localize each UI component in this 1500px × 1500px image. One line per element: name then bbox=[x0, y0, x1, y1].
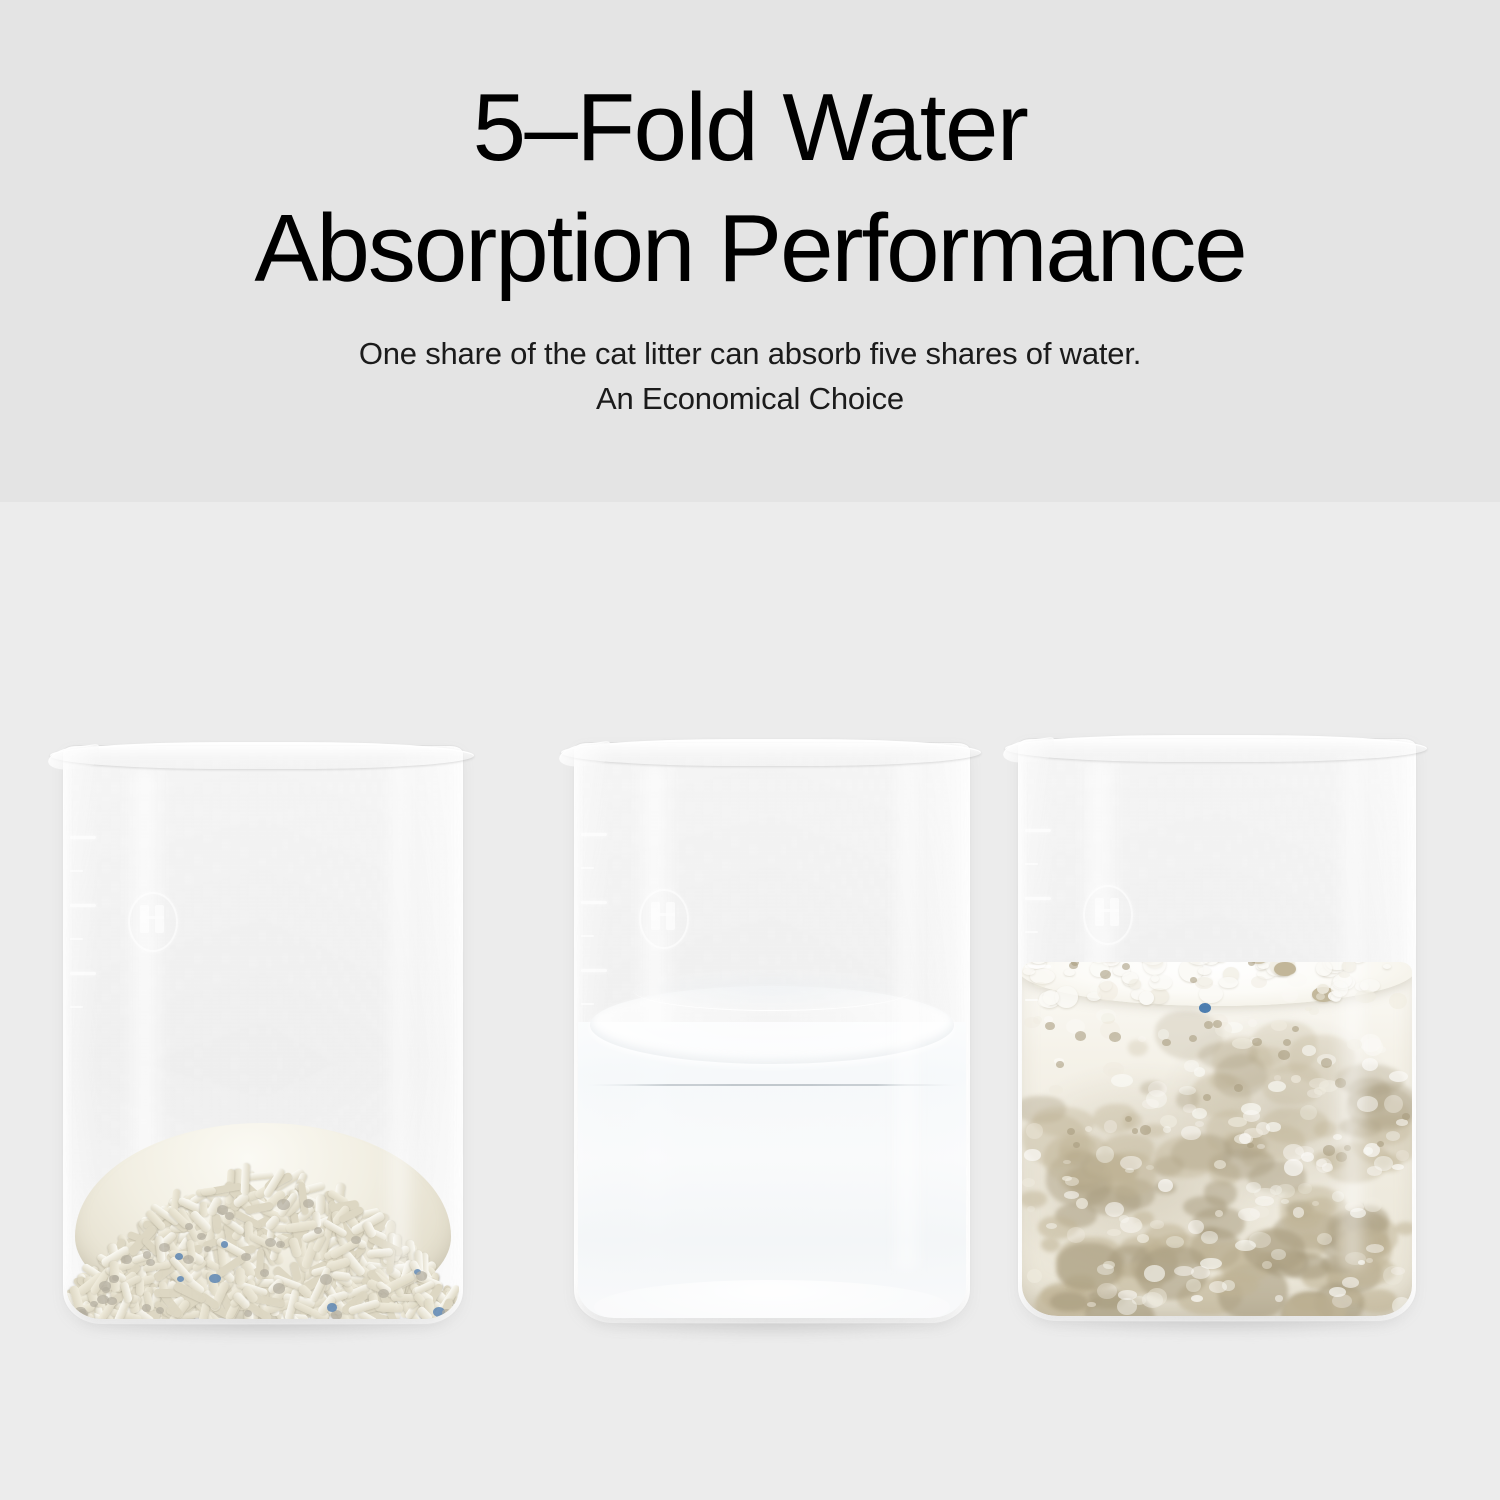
swollen-litter-lump bbox=[1332, 975, 1355, 990]
swollen-litter-lump bbox=[1331, 993, 1341, 1001]
wet-litter-patch bbox=[1342, 1232, 1369, 1254]
graduation-marks bbox=[581, 833, 651, 1043]
gray-granule bbox=[1132, 1128, 1138, 1133]
water-base-arc bbox=[594, 1280, 951, 1318]
graduation-tick bbox=[70, 938, 83, 940]
litter-pellet bbox=[410, 1244, 419, 1273]
blue-deodorant-granule bbox=[209, 1274, 220, 1283]
swollen-litter-lump bbox=[1383, 964, 1392, 969]
gray-granule bbox=[146, 1259, 154, 1266]
swollen-litter-lump bbox=[1222, 1280, 1235, 1291]
swollen-litter-lump bbox=[1186, 1279, 1200, 1292]
gray-granule bbox=[1140, 1125, 1151, 1135]
swollen-litter-lump bbox=[1389, 1071, 1408, 1082]
swollen-litter-lump bbox=[1358, 1260, 1365, 1265]
swollen-litter-lump bbox=[1142, 1099, 1159, 1109]
gray-granule bbox=[1073, 1142, 1080, 1148]
graduation-tick bbox=[70, 870, 83, 872]
blue-deodorant-granule bbox=[1199, 1003, 1210, 1013]
swollen-litter-lump bbox=[1067, 1227, 1085, 1242]
beaker-glass bbox=[573, 742, 971, 1324]
swollen-litter-lump bbox=[1027, 1206, 1034, 1213]
beaker-water bbox=[573, 742, 969, 1322]
graduation-tick bbox=[1025, 999, 1038, 1001]
swollen-litter-lump bbox=[1024, 1149, 1041, 1160]
water-surface-inner-ring bbox=[633, 970, 910, 1011]
gray-granule bbox=[1252, 1038, 1261, 1046]
dry-litter-pile bbox=[67, 1123, 459, 1319]
graduation-tick bbox=[70, 904, 96, 907]
swollen-litter-lump bbox=[1137, 1234, 1149, 1243]
swollen-litter-lump bbox=[1364, 1197, 1381, 1212]
swollen-litter-lump bbox=[1183, 1104, 1196, 1112]
header-band: 5–Fold Water Absorption Performance One … bbox=[0, 0, 1500, 502]
swollen-litter-lump bbox=[1275, 1295, 1283, 1302]
swollen-litter-lump bbox=[1195, 1121, 1203, 1127]
swollen-litter-lump bbox=[1309, 1007, 1319, 1015]
blue-deodorant-granule bbox=[175, 1253, 183, 1260]
swollen-litter-lump bbox=[1391, 1267, 1405, 1275]
beaker-brand-emblem-icon bbox=[639, 889, 689, 949]
swollen-litter-lump bbox=[1096, 1146, 1114, 1163]
swollen-litter-lump bbox=[1139, 991, 1153, 1004]
graduation-marks bbox=[70, 836, 140, 1046]
litter-pellet bbox=[386, 1264, 420, 1273]
swollen-litter-lump bbox=[1314, 1087, 1327, 1095]
swollen-litter-lump bbox=[1104, 1120, 1117, 1133]
gray-granule bbox=[99, 1281, 111, 1291]
gray-granule bbox=[1234, 1084, 1243, 1092]
gray-granule bbox=[204, 1246, 211, 1252]
gray-granule bbox=[143, 1251, 151, 1258]
product-feature-image: 5–Fold Water Absorption Performance One … bbox=[0, 0, 1500, 1500]
gray-granule bbox=[1056, 1061, 1063, 1067]
wet-litter-patch bbox=[1336, 1228, 1391, 1274]
swollen-litter-lump bbox=[1085, 1126, 1092, 1132]
swollen-litter-lump bbox=[1238, 1208, 1260, 1221]
beaker-glass bbox=[62, 745, 464, 1325]
litter-pellet bbox=[376, 1236, 390, 1252]
beaker-dry-litter bbox=[62, 745, 462, 1323]
swollen-litter-lump bbox=[1097, 1283, 1116, 1299]
swollen-litter-lump bbox=[1251, 976, 1267, 988]
gray-granule bbox=[244, 1310, 252, 1317]
gray-granule bbox=[1292, 1026, 1299, 1032]
water-body bbox=[578, 1022, 966, 1318]
swollen-litter-lump bbox=[1274, 1075, 1281, 1081]
litter-pellet bbox=[385, 1220, 395, 1249]
graduation-tick bbox=[581, 901, 607, 904]
graduation-tick bbox=[1025, 931, 1038, 933]
gray-granule bbox=[142, 1304, 151, 1311]
swollen-litter-lump bbox=[1339, 972, 1350, 978]
graduation-tick bbox=[581, 969, 607, 972]
gray-granule bbox=[217, 1205, 228, 1215]
swollen-litter-lump bbox=[1215, 1210, 1223, 1217]
gray-granule bbox=[1109, 1032, 1121, 1042]
beaker-glass bbox=[1017, 738, 1417, 1322]
swollen-litter-lump bbox=[1360, 979, 1380, 993]
gray-granule bbox=[1323, 1145, 1335, 1155]
swollen-litter-lump bbox=[1194, 1067, 1206, 1077]
swollen-litter-lump bbox=[1298, 1183, 1312, 1194]
header-text-block: 5–Fold Water Absorption Performance One … bbox=[0, 0, 1500, 422]
swollen-litter-lump bbox=[1284, 1159, 1302, 1175]
page-title: 5–Fold Water Absorption Performance bbox=[0, 0, 1500, 310]
swollen-litter-lump bbox=[1147, 1288, 1167, 1306]
swollen-litter-lump bbox=[1022, 1178, 1035, 1187]
swollen-litter-lump bbox=[1363, 1147, 1374, 1155]
beaker-brand-emblem-icon bbox=[1083, 885, 1133, 945]
subtitle-line-1: One share of the cat litter can absorb f… bbox=[0, 332, 1500, 377]
litter-pellet bbox=[385, 1248, 404, 1266]
swollen-litter-lump bbox=[1049, 1085, 1063, 1095]
swollen-litter-lump bbox=[1345, 962, 1355, 964]
gray-granule bbox=[121, 1255, 131, 1264]
swollen-litter-lump bbox=[1366, 1258, 1373, 1263]
swollen-litter-lump bbox=[1301, 1152, 1314, 1162]
wet-litter-patch bbox=[1330, 1215, 1375, 1238]
swollen-litter-lump bbox=[1332, 1191, 1345, 1202]
graduation-tick bbox=[581, 833, 607, 836]
litter-pellet bbox=[392, 1234, 400, 1259]
gray-granule bbox=[277, 1199, 289, 1210]
gray-granule bbox=[276, 1241, 285, 1249]
swollen-litter-lump bbox=[1146, 1165, 1154, 1170]
litter-pellet bbox=[212, 1214, 221, 1235]
title-line-2: Absorption Performance bbox=[0, 189, 1500, 310]
graduation-tick bbox=[70, 972, 96, 975]
litter-pellet bbox=[236, 1268, 245, 1285]
gray-granule bbox=[1336, 1152, 1348, 1162]
graduation-tick bbox=[1025, 965, 1051, 968]
graduation-tick bbox=[581, 935, 594, 937]
gray-granule bbox=[320, 1274, 332, 1284]
gray-granule bbox=[1248, 962, 1255, 966]
swollen-litter-lump bbox=[1333, 974, 1352, 989]
blue-deodorant-granule bbox=[221, 1241, 229, 1247]
blue-deodorant-granule bbox=[327, 1303, 337, 1312]
swollen-litter-lump bbox=[1120, 1156, 1142, 1170]
swollen-litter-lump bbox=[1316, 993, 1325, 1001]
swollen-litter-lump bbox=[1392, 1164, 1404, 1170]
swollen-litter-lump bbox=[1111, 1074, 1132, 1087]
gray-granule bbox=[1189, 1035, 1197, 1042]
gray-granule bbox=[156, 1307, 165, 1314]
graduation-tick bbox=[1025, 897, 1051, 900]
swollen-litter-lump bbox=[1087, 1302, 1096, 1307]
beaker-photo-stage bbox=[0, 502, 1500, 1500]
gray-granule bbox=[90, 1301, 98, 1308]
gray-granule bbox=[1100, 970, 1111, 979]
swollen-litter-lump bbox=[1342, 962, 1355, 972]
litter-pellet bbox=[367, 1248, 394, 1259]
swollen-litter-lump bbox=[1255, 1196, 1274, 1206]
graduation-tick bbox=[1025, 863, 1038, 865]
swollen-litter-lump bbox=[1268, 1081, 1286, 1092]
swollen-litter-lump bbox=[1181, 1126, 1200, 1140]
beaker-brand-emblem-icon bbox=[128, 892, 178, 952]
swollen-litter-lump bbox=[1144, 1265, 1165, 1281]
gray-granule bbox=[1344, 1145, 1351, 1151]
swollen-litter-lump bbox=[1350, 1208, 1366, 1219]
litter-pellet bbox=[388, 1233, 397, 1258]
wet-litter-patch bbox=[1022, 1191, 1047, 1207]
swollen-litter-lump bbox=[1389, 993, 1407, 1010]
swollen-litter-lump bbox=[1317, 1233, 1332, 1245]
swollen-litter-lump bbox=[1347, 1039, 1362, 1050]
gray-granule bbox=[1213, 1020, 1222, 1028]
wet-litter-patch bbox=[1350, 1228, 1374, 1241]
swollen-litter-lump bbox=[1271, 1249, 1286, 1260]
swollen-litter-lump bbox=[1097, 981, 1118, 1001]
swollen-litter-lump bbox=[1287, 973, 1308, 987]
page-subtitle: One share of the cat litter can absorb f… bbox=[0, 310, 1500, 422]
subtitle-line-2: An Economical Choice bbox=[0, 377, 1500, 422]
graduation-tick bbox=[70, 1006, 83, 1008]
beaker-absorbed-clump bbox=[1017, 738, 1415, 1320]
swollen-litter-lump bbox=[1355, 990, 1376, 1003]
litter-pellet bbox=[378, 1231, 391, 1267]
swollen-litter-lump bbox=[1266, 1122, 1282, 1132]
swollen-litter-lump bbox=[1235, 1240, 1256, 1252]
swollen-litter-lump bbox=[1396, 1119, 1408, 1126]
swollen-litter-lump bbox=[1150, 1220, 1164, 1229]
swollen-litter-lump bbox=[1107, 1229, 1121, 1236]
gray-granule bbox=[1402, 1113, 1410, 1120]
gray-granule bbox=[351, 1236, 361, 1245]
wet-litter-patch bbox=[1128, 1040, 1148, 1057]
swollen-litter-lump bbox=[1345, 1252, 1366, 1265]
swollen-litter-lump bbox=[1332, 1294, 1353, 1308]
graduation-marks bbox=[1025, 829, 1095, 1039]
swollen-litter-lump bbox=[1271, 1020, 1287, 1031]
swollen-litter-lump bbox=[1134, 1222, 1143, 1230]
swollen-litter-lump bbox=[1191, 1266, 1210, 1279]
gray-granule bbox=[1190, 977, 1196, 983]
water-refraction-line bbox=[586, 1084, 958, 1086]
gray-granule bbox=[159, 1243, 169, 1252]
wet-litter-patch bbox=[1395, 1222, 1412, 1235]
swollen-litter-lump bbox=[1282, 988, 1297, 1002]
swollen-litter-lump bbox=[1363, 1038, 1383, 1056]
swollen-litter-lump bbox=[1188, 1220, 1204, 1235]
gray-granule bbox=[260, 1269, 269, 1277]
swollen-litter-lump bbox=[1392, 1297, 1412, 1315]
swollen-litter-lump bbox=[1143, 962, 1166, 975]
litter-pellet bbox=[390, 1250, 398, 1265]
litter-pellet bbox=[385, 1248, 416, 1269]
swollen-litter-lump bbox=[1248, 1019, 1257, 1027]
graduation-tick bbox=[581, 867, 594, 869]
swollen-litter-lump bbox=[1333, 1134, 1342, 1140]
litter-pellet bbox=[388, 1236, 405, 1253]
swollen-litter-lump bbox=[1214, 1160, 1226, 1169]
swollen-litter-lump bbox=[1300, 1105, 1317, 1120]
swollen-litter-lump bbox=[1348, 962, 1367, 963]
litter-pellet bbox=[386, 1247, 395, 1273]
gray-granule bbox=[185, 1223, 193, 1230]
title-line-1: 5–Fold Water bbox=[0, 0, 1500, 189]
gray-granule bbox=[303, 1199, 314, 1208]
swollen-litter-lump bbox=[1291, 1075, 1301, 1083]
swollen-litter-lump bbox=[1198, 967, 1212, 975]
swollen-litter-lump bbox=[1302, 1045, 1316, 1056]
swollen-litter-lump bbox=[1179, 1086, 1196, 1095]
gray-granule bbox=[1335, 1078, 1346, 1088]
swollen-litter-lump bbox=[1062, 1176, 1072, 1181]
gray-granule bbox=[1247, 1143, 1253, 1148]
swollen-litter-lump bbox=[1396, 1150, 1409, 1161]
litter-pellet bbox=[394, 1247, 414, 1260]
wet-litter-patch bbox=[1050, 1292, 1087, 1311]
swollen-litter-lump bbox=[1331, 981, 1348, 997]
wet-litter-patch bbox=[1041, 1238, 1060, 1252]
graduation-tick bbox=[1025, 829, 1051, 832]
swollen-litter-lump bbox=[1129, 979, 1141, 989]
gray-granule bbox=[416, 1271, 427, 1280]
beaker-rim bbox=[50, 742, 474, 769]
gray-granule bbox=[107, 1297, 117, 1305]
swollen-litter-lump bbox=[1219, 977, 1238, 989]
beaker-rim bbox=[561, 739, 981, 766]
swollen-litter-lump bbox=[1355, 982, 1369, 991]
swollen-litter-lump bbox=[1362, 1058, 1378, 1071]
swollen-litter-lump bbox=[1027, 1269, 1042, 1283]
swollen-litter-lump bbox=[1195, 977, 1213, 988]
swollen-litter-lump bbox=[1262, 1261, 1272, 1269]
wet-litter-patch bbox=[1204, 1181, 1237, 1207]
swollen-litter-lump bbox=[1357, 1096, 1378, 1112]
swollen-litter-lump bbox=[1096, 1009, 1115, 1022]
gray-granule bbox=[1067, 1128, 1075, 1135]
gray-granule bbox=[273, 1283, 285, 1293]
litter-pellet bbox=[381, 1245, 410, 1267]
swollen-litter-lump bbox=[1386, 1131, 1401, 1141]
wet-litter-patch bbox=[1345, 1205, 1389, 1234]
graduation-tick bbox=[581, 1003, 594, 1005]
litter-pellet bbox=[406, 1240, 419, 1271]
swollen-litter-lump bbox=[1163, 1126, 1171, 1133]
swollen-litter-lump bbox=[1228, 1117, 1246, 1127]
swollen-litter-lump bbox=[1345, 1202, 1364, 1212]
swollen-litter-lump bbox=[1105, 1202, 1125, 1217]
graduation-tick bbox=[70, 836, 96, 839]
gray-granule bbox=[1203, 1094, 1211, 1101]
beaker-rim bbox=[1005, 735, 1427, 762]
